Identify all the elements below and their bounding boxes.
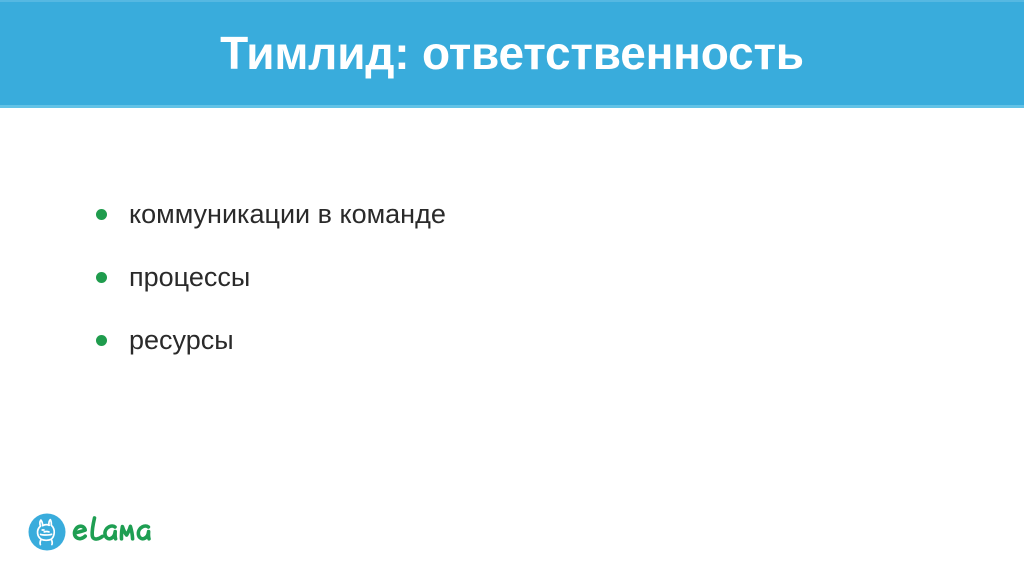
bullet-list: коммуникации в команде процессы ресурсы [96,196,936,385]
list-item: процессы [96,259,936,322]
banner-bottom-edge [0,105,1024,108]
llama-head-icon [28,513,66,551]
header-banner: Тимлид: ответственность [0,0,1024,108]
list-item-label: ресурсы [129,322,234,358]
list-item-label: процессы [129,259,250,295]
list-item: ресурсы [96,322,936,385]
page-title: Тимлид: ответственность [0,0,1024,105]
slide: Тимлид: ответственность коммуникации в к… [0,0,1024,576]
bullet-dot-icon [96,272,107,283]
list-item: коммуникации в команде [96,196,936,259]
bullet-dot-icon [96,335,107,346]
elama-wordmark [72,513,156,552]
list-item-label: коммуникации в команде [129,196,446,232]
bullet-dot-icon [96,209,107,220]
elama-logo [28,510,158,554]
